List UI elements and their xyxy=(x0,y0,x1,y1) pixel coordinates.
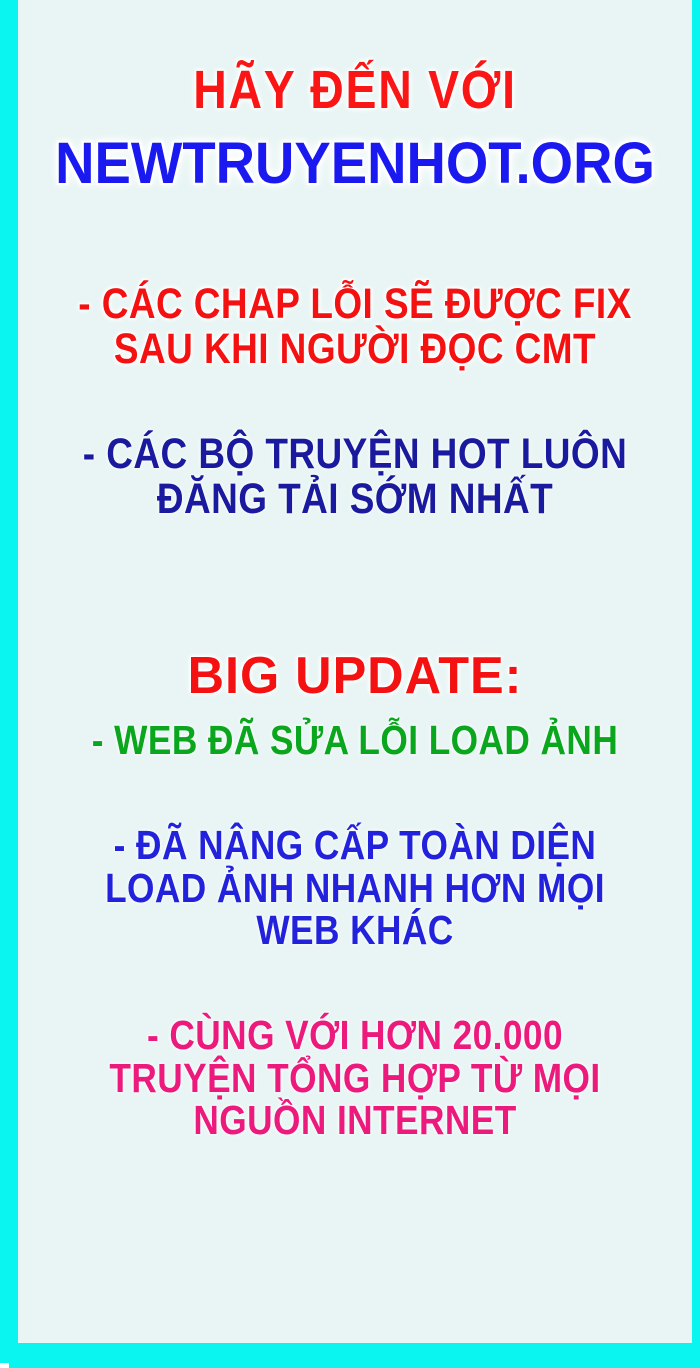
update-catalog-size: - CÙNG VỚI HƠN 20.000 TRUYỆN TỔNG HỢP TỪ… xyxy=(18,1014,692,1142)
update-full-upgrade-line-3: WEB KHÁC xyxy=(65,909,645,952)
corner-sliver xyxy=(0,1363,9,1368)
update-full-upgrade: - ĐÃ NÂNG CẤP TOÀN DIỆN LOAD ẢNH NHANH H… xyxy=(18,824,692,952)
update-image-load-fix: - WEB ĐÃ SỬA LỖI LOAD ẢNH xyxy=(18,719,692,762)
notice-hot-series-line-1: - CÁC BỘ TRUYỆN HOT LUÔN xyxy=(65,432,645,477)
notice-chap-fix-line-2: SAU KHI NGƯỜI ĐỌC CMT xyxy=(65,327,645,372)
notice-hot-series: - CÁC BỘ TRUYỆN HOT LUÔN ĐĂNG TẢI SỚM NH… xyxy=(18,432,692,521)
notice-hot-series-line-2: ĐĂNG TẢI SỚM NHẤT xyxy=(65,477,645,522)
update-catalog-size-line-2: TRUYỆN TỔNG HỢP TỪ MỌI xyxy=(65,1057,645,1100)
big-update-heading: BIG UPDATE: xyxy=(28,649,682,703)
update-catalog-size-line-1: - CÙNG VỚI HƠN 20.000 xyxy=(65,1014,645,1057)
update-catalog-size-line-3: NGUỒN INTERNET xyxy=(65,1099,645,1142)
notice-chap-fix: - CÁC CHAP LỖI SẼ ĐƯỢC FIX SAU KHI NGƯỜI… xyxy=(18,282,692,371)
invite-heading: HÃY ĐẾN VỚI xyxy=(65,62,645,118)
notice-chap-fix-line-1: - CÁC CHAP LỖI SẼ ĐƯỢC FIX xyxy=(65,282,645,327)
update-full-upgrade-line-2: LOAD ẢNH NHANH HƠN MỌI xyxy=(65,867,645,910)
banner-panel: HÃY ĐẾN VỚI NEWTRUYENHOT.ORG - CÁC CHAP … xyxy=(18,0,692,1343)
update-image-load-fix-line-1: - WEB ĐÃ SỬA LỖI LOAD ẢNH xyxy=(65,719,645,762)
update-full-upgrade-line-1: - ĐÃ NÂNG CẤP TOÀN DIỆN xyxy=(65,824,645,867)
site-url-heading[interactable]: NEWTRUYENHOT.ORG xyxy=(38,134,672,194)
update-heading-block: BIG UPDATE: xyxy=(18,649,692,703)
promo-banner: HÃY ĐẾN VỚI NEWTRUYENHOT.ORG - CÁC CHAP … xyxy=(0,0,700,1368)
